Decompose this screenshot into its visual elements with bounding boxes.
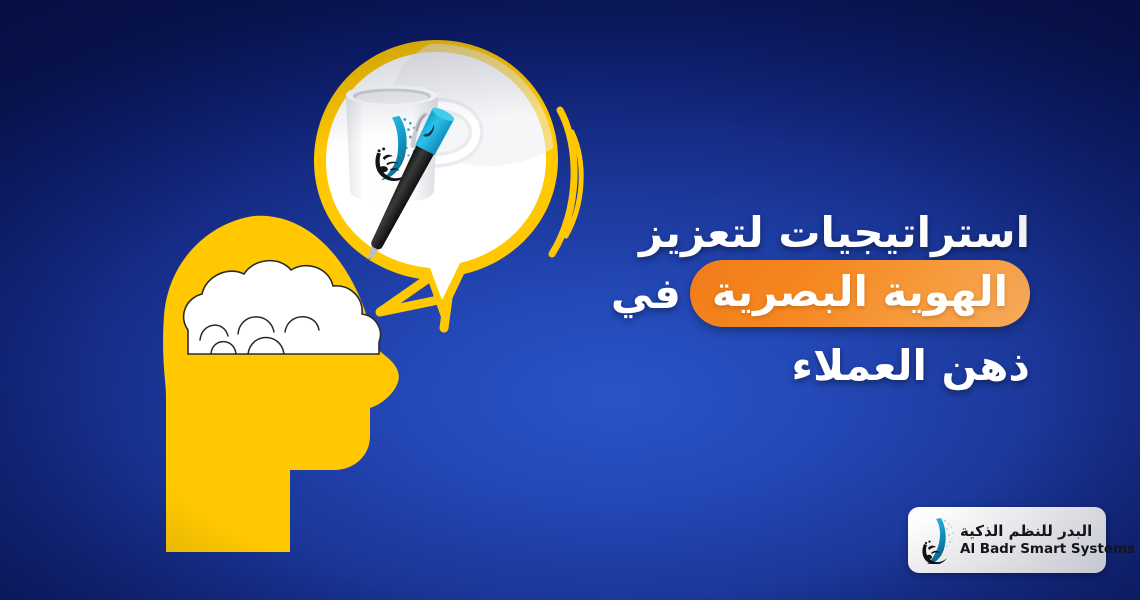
al-badr-calligraphy-mark-icon [918, 516, 956, 564]
mug-interior [356, 91, 428, 103]
headline-line-1: استراتيجيات لتعزيز [560, 206, 1030, 260]
mug-and-pen-illustration [330, 70, 540, 270]
brand-logo-text: البدر للنظم الذكية Al Badr Smart Systems [960, 523, 1135, 557]
headline-line-2: الهوية البصرية في [560, 260, 1030, 328]
headline-block: استراتيجيات لتعزيز الهوية البصرية في ذهن… [560, 206, 1030, 393]
brand-logo-badge[interactable]: البدر للنظم الذكية Al Badr Smart Systems [908, 507, 1106, 573]
headline-preposition: في [611, 267, 681, 321]
headline-highlight-pill: الهوية البصرية [690, 260, 1030, 328]
brand-name-arabic: البدر للنظم الذكية [960, 523, 1092, 540]
brand-name-english: Al Badr Smart Systems [960, 542, 1135, 557]
headline-line-3: ذهن العملاء [560, 339, 1030, 393]
promo-banner: استراتيجيات لتعزيز الهوية البصرية في ذهن… [0, 0, 1140, 600]
